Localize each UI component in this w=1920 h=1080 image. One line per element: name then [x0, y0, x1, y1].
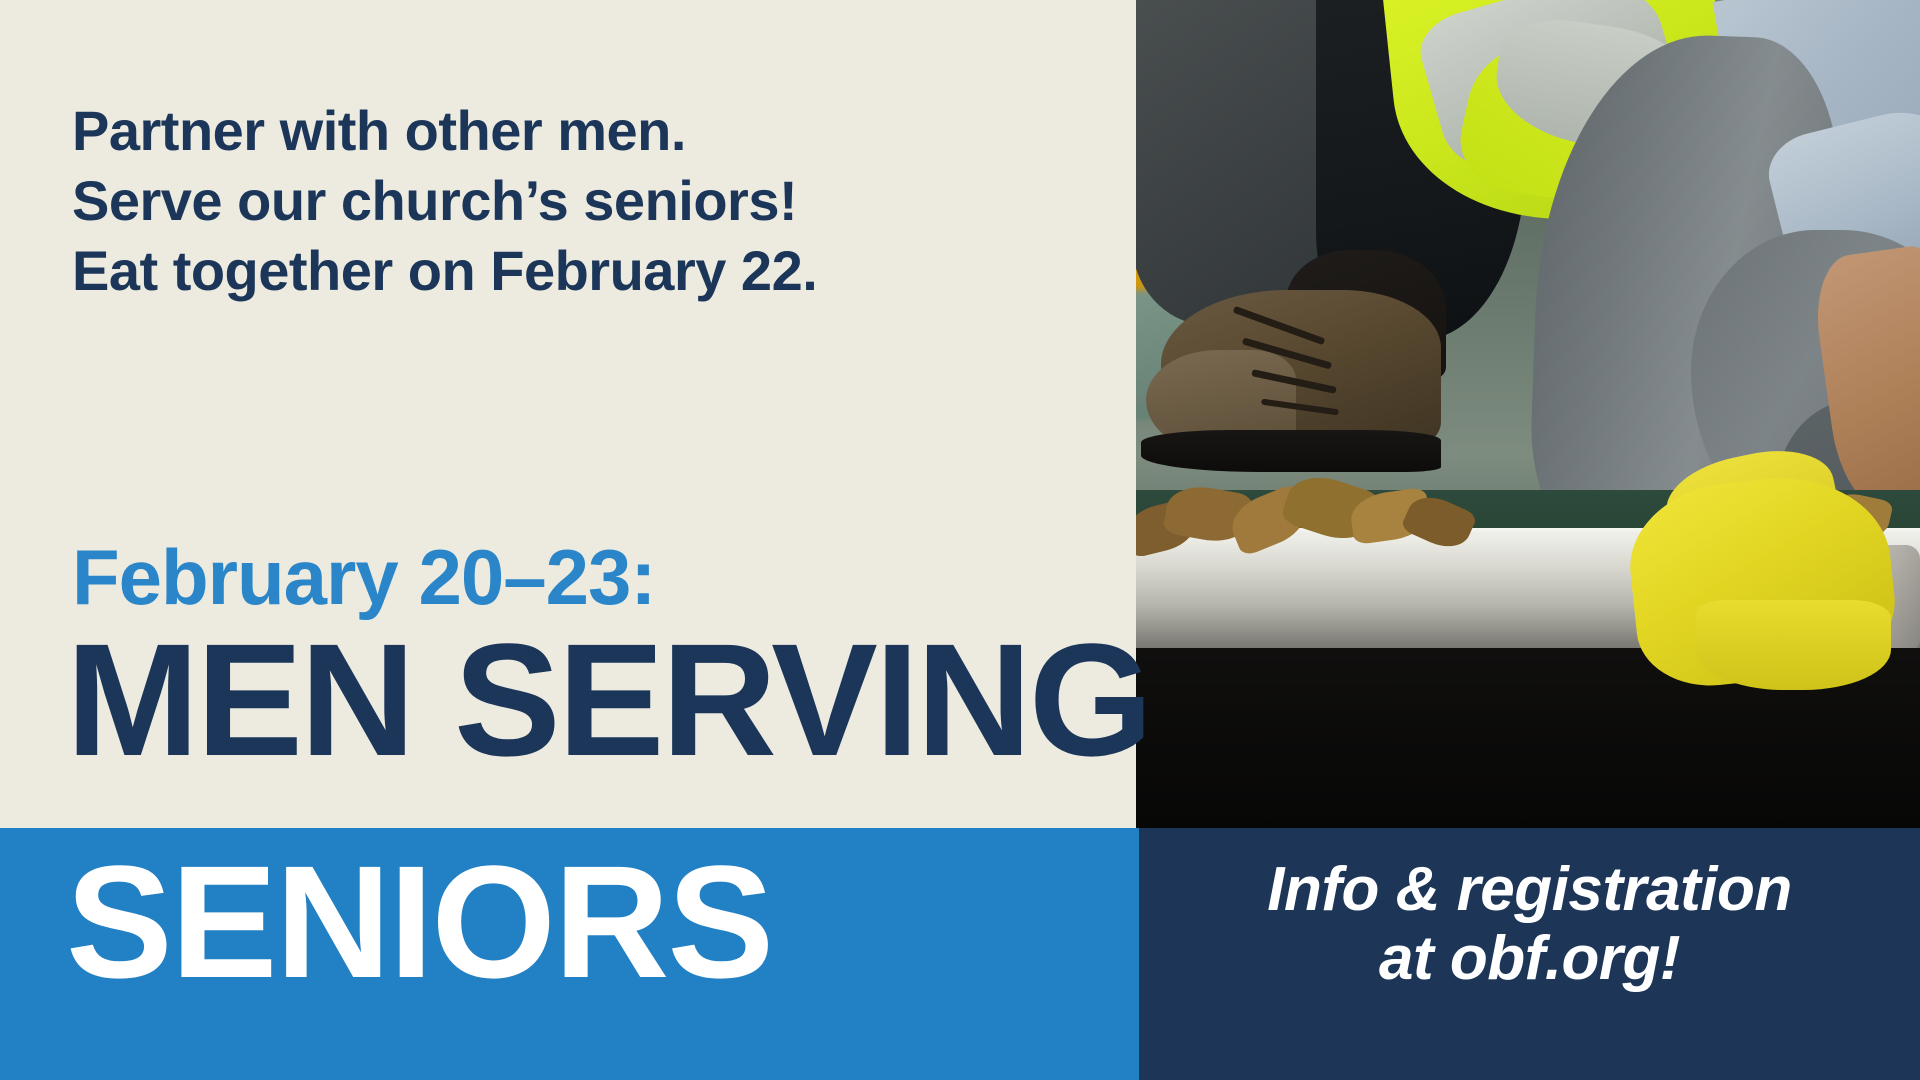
volunteer-cleaning-gutter-photo	[1136, 0, 1920, 828]
cta-line-1: Info & registration	[1139, 855, 1920, 924]
poster-canvas: Partner with other men. Serve our church…	[0, 0, 1920, 1080]
cta-line-2: at obf.org!	[1139, 924, 1920, 993]
intro-paragraph: Partner with other men. Serve our church…	[72, 96, 972, 306]
boot-sole	[1141, 430, 1441, 472]
cta-text: Info & registration at obf.org!	[1139, 855, 1920, 994]
glove-fingers	[1696, 600, 1891, 690]
title-line-men-serving: MEN SERVING	[66, 620, 1150, 780]
intro-line-2: Serve our church’s seniors!	[72, 166, 972, 236]
intro-line-1: Partner with other men.	[72, 96, 972, 166]
title-line-seniors: SENIORS	[66, 842, 772, 1002]
intro-line-3: Eat together on February 22.	[72, 236, 972, 306]
